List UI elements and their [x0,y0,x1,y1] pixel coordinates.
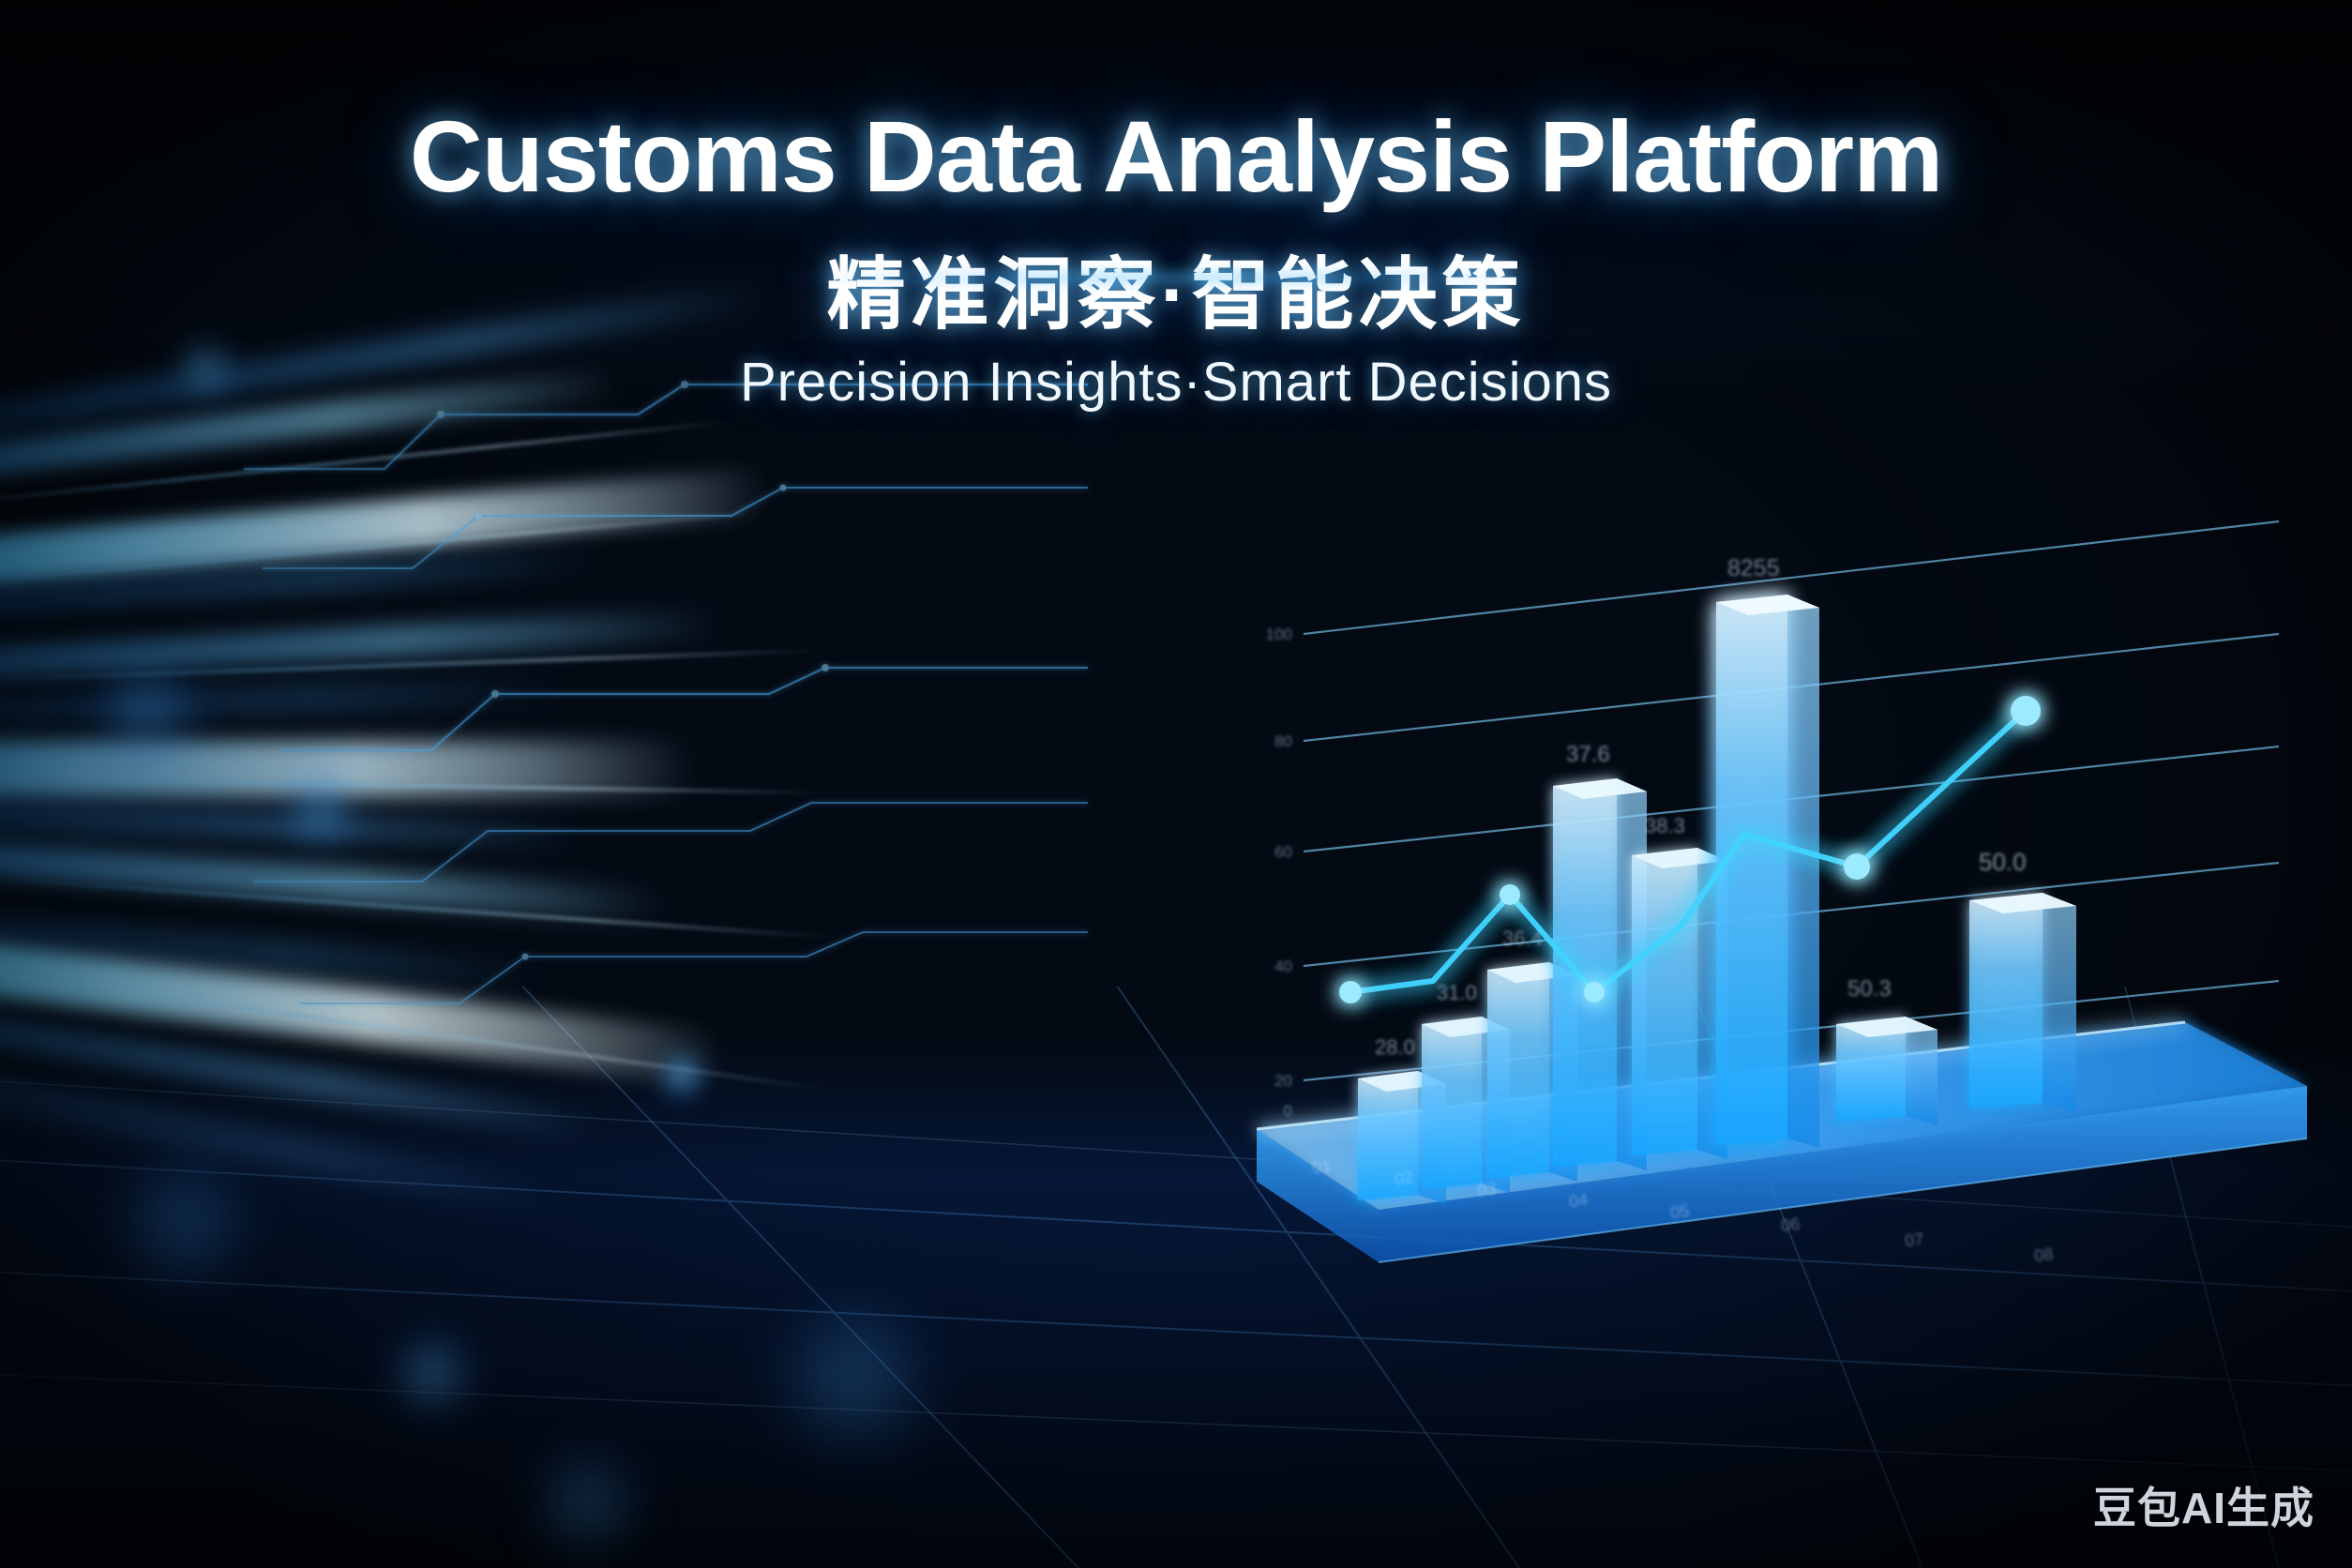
svg-text:100: 100 [1266,626,1292,643]
svg-text:0: 0 [1284,1102,1292,1120]
svg-text:07: 07 [1904,1229,1924,1250]
svg-text:02: 02 [1394,1168,1414,1188]
svg-text:20: 20 [1274,1072,1292,1090]
bar-value-label: 38.3 [1645,814,1685,837]
bar-value-label: 31.0 [1437,981,1477,1004]
svg-text:08: 08 [2033,1244,2054,1265]
subtitle-chinese: 精准洞察·智能决策 [0,232,2352,345]
bar-column [1632,848,1727,1159]
bar-column [1836,1017,1937,1125]
poster-header: Customs Data Analysis Platform 精准洞察·智能决策… [0,103,2352,414]
svg-text:60: 60 [1274,843,1292,861]
page-title: Customs Data Analysis Platform [0,103,2352,209]
svg-text:03: 03 [1476,1179,1497,1199]
bar-value-label: 37.6 [1566,742,1610,767]
bar-chart-3d: 100 80 60 40 20 0 28.0 [1200,460,2307,1360]
svg-text:05: 05 [1669,1201,1690,1222]
bar-value-label: 50.0 [1979,848,2027,876]
svg-text:40: 40 [1274,957,1292,975]
poster-canvas: 100 80 60 40 20 0 28.0 [0,0,2352,1568]
bar-value-label: 8255 [1727,555,1780,581]
svg-text:01: 01 [1311,1156,1332,1177]
watermark-label: 豆包AI生成 [2093,1474,2314,1536]
bar-value-label: 50.3 [1847,976,1892,1002]
subtitle-english: Precision Insights·Smart Decisions [0,351,2352,414]
y-axis-tick-labels: 100 80 60 40 20 0 [1266,626,1292,1120]
bar-value-label: 28.0 [1375,1035,1415,1059]
bar-value-label: 36.4 [1502,927,1543,950]
svg-text:04: 04 [1568,1190,1589,1211]
bar-column [1969,893,2076,1112]
title-glow-streak [623,270,1729,285]
bar-column [1716,595,1819,1148]
svg-text:80: 80 [1274,732,1292,750]
svg-text:06: 06 [1780,1214,1801,1235]
